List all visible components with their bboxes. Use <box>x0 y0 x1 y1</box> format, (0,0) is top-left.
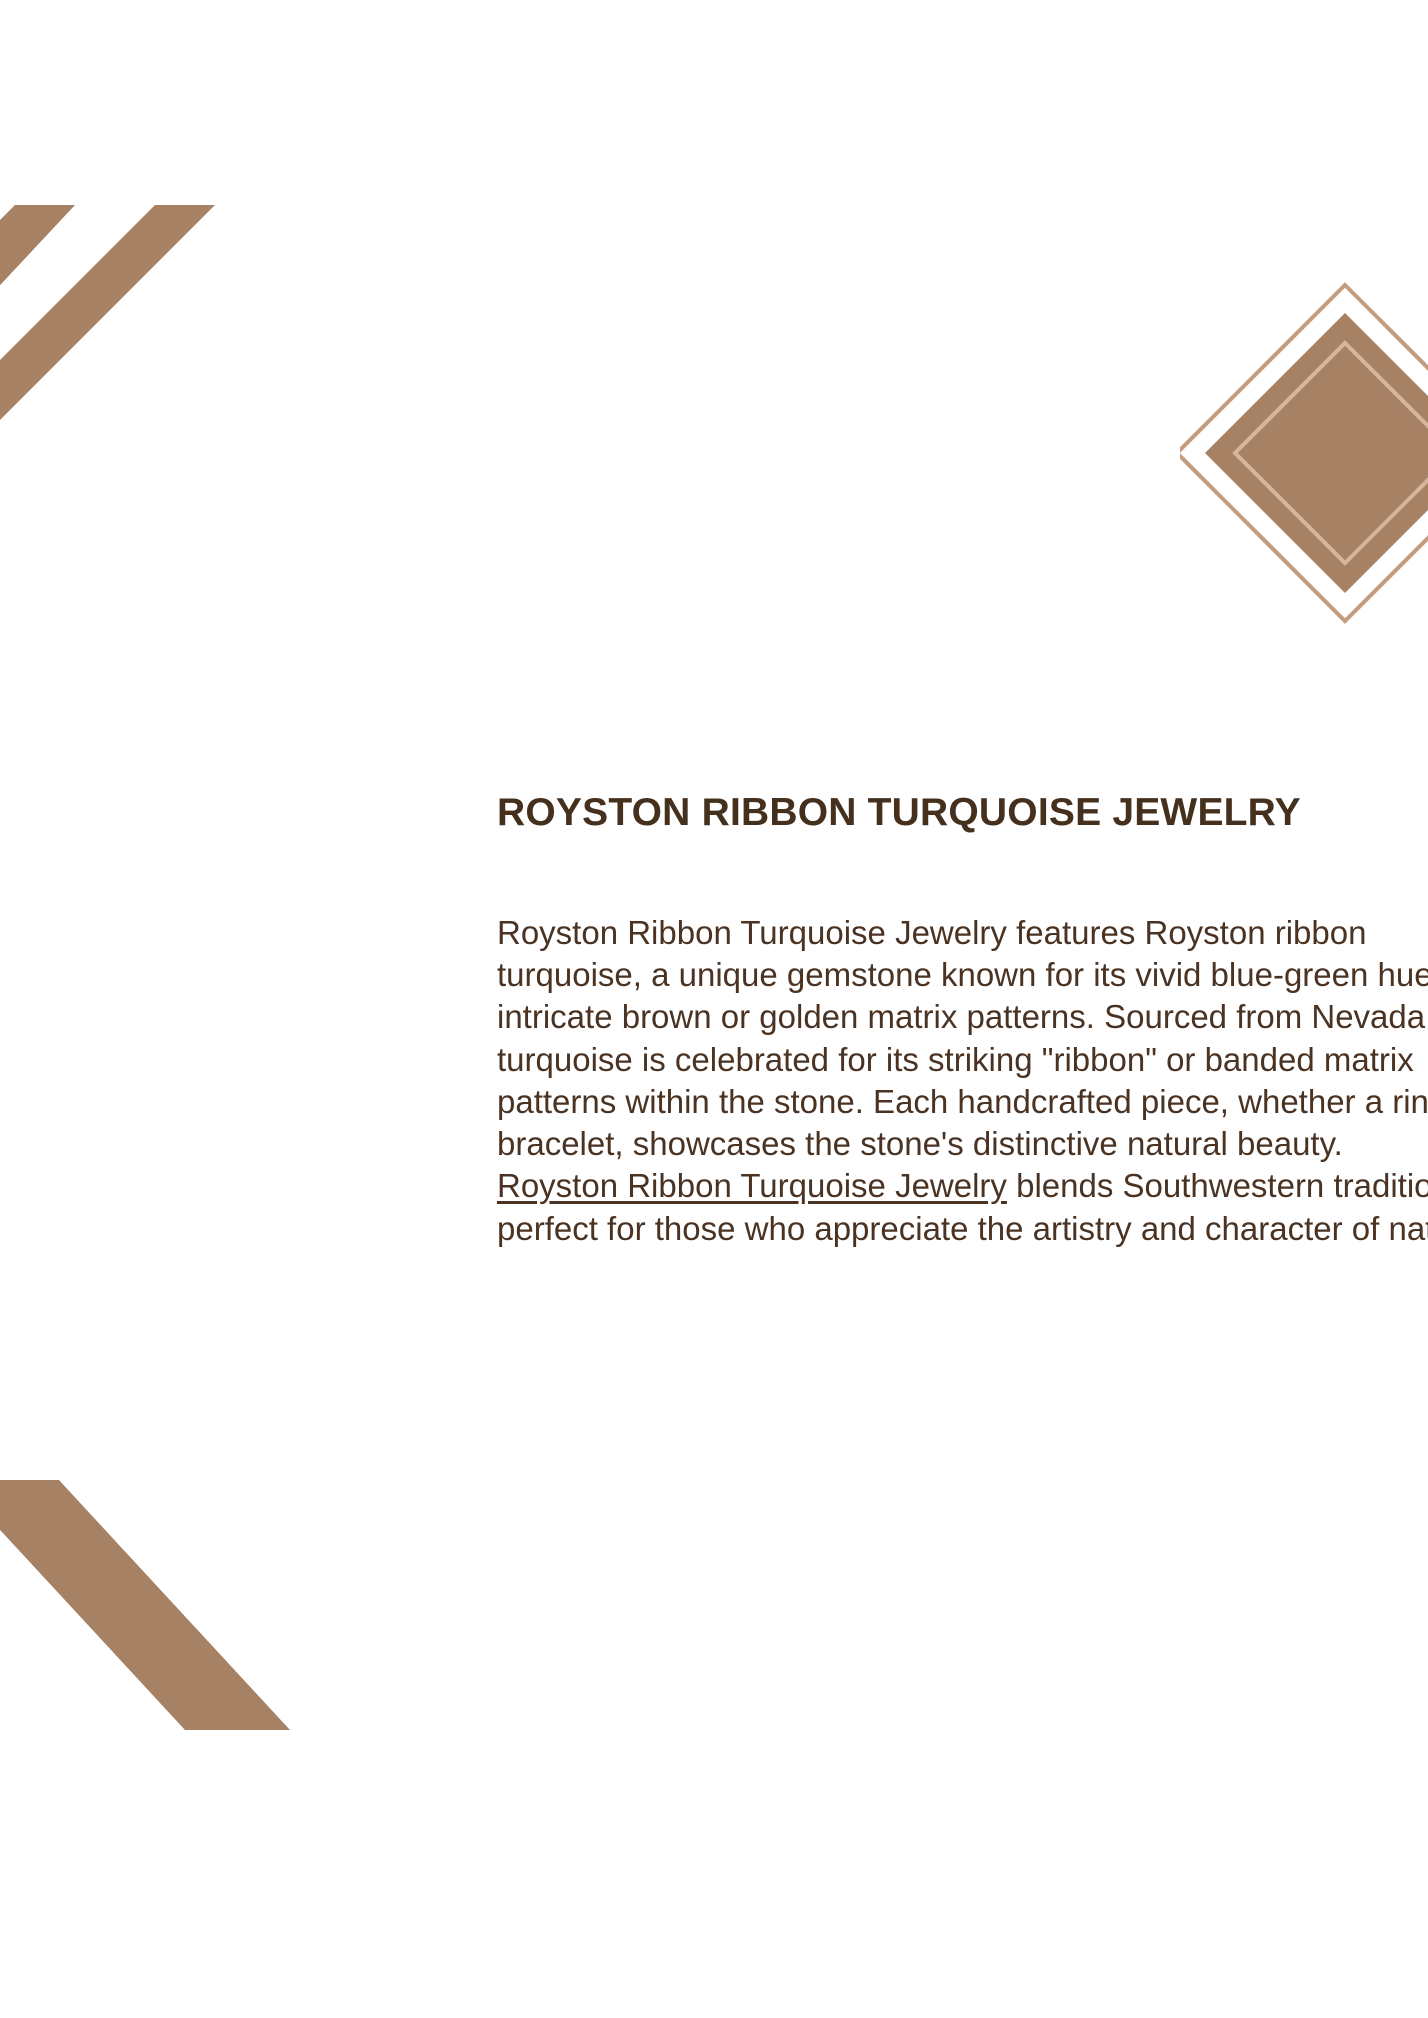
decorative-band-bottom-left <box>0 1480 300 1780</box>
paragraph-line-6: bracelet, showcases the stone's distinct… <box>497 1123 1428 1165</box>
paragraph-line-3: intricate brown or golden matrix pattern… <box>497 996 1428 1038</box>
paragraph-line-7-tail: blends Southwestern tradition with timel… <box>1007 1167 1428 1204</box>
paragraph-line-2: turquoise, a unique gemstone known for i… <box>497 954 1428 996</box>
royston-ribbon-turquoise-jewelry-link[interactable]: Royston Ribbon Turquoise Jewelry <box>497 1167 1007 1204</box>
paragraph-line-1: Royston Ribbon Turquoise Jewelry feature… <box>497 912 1428 954</box>
article-paragraph: Royston Ribbon Turquoise Jewelry feature… <box>497 912 1428 1250</box>
article-content: ROYSTON RIBBON TURQUOISE JEWELRY Royston… <box>497 790 1428 1250</box>
paragraph-line-5: patterns within the stone. Each handcraf… <box>497 1081 1428 1123</box>
page-title: ROYSTON RIBBON TURQUOISE JEWELRY <box>497 790 1428 836</box>
paragraph-line-8: perfect for those who appreciate the art… <box>497 1208 1428 1250</box>
diamond-ornament <box>1180 255 1428 735</box>
paragraph-line-7: Royston Ribbon Turquoise Jewelry blends … <box>497 1165 1428 1207</box>
paragraph-line-4: turquoise is celebrated for its striking… <box>497 1039 1428 1081</box>
document-page: ROYSTON RIBBON TURQUOISE JEWELRY Royston… <box>0 0 1428 2018</box>
decorative-band-top-left <box>0 140 300 440</box>
